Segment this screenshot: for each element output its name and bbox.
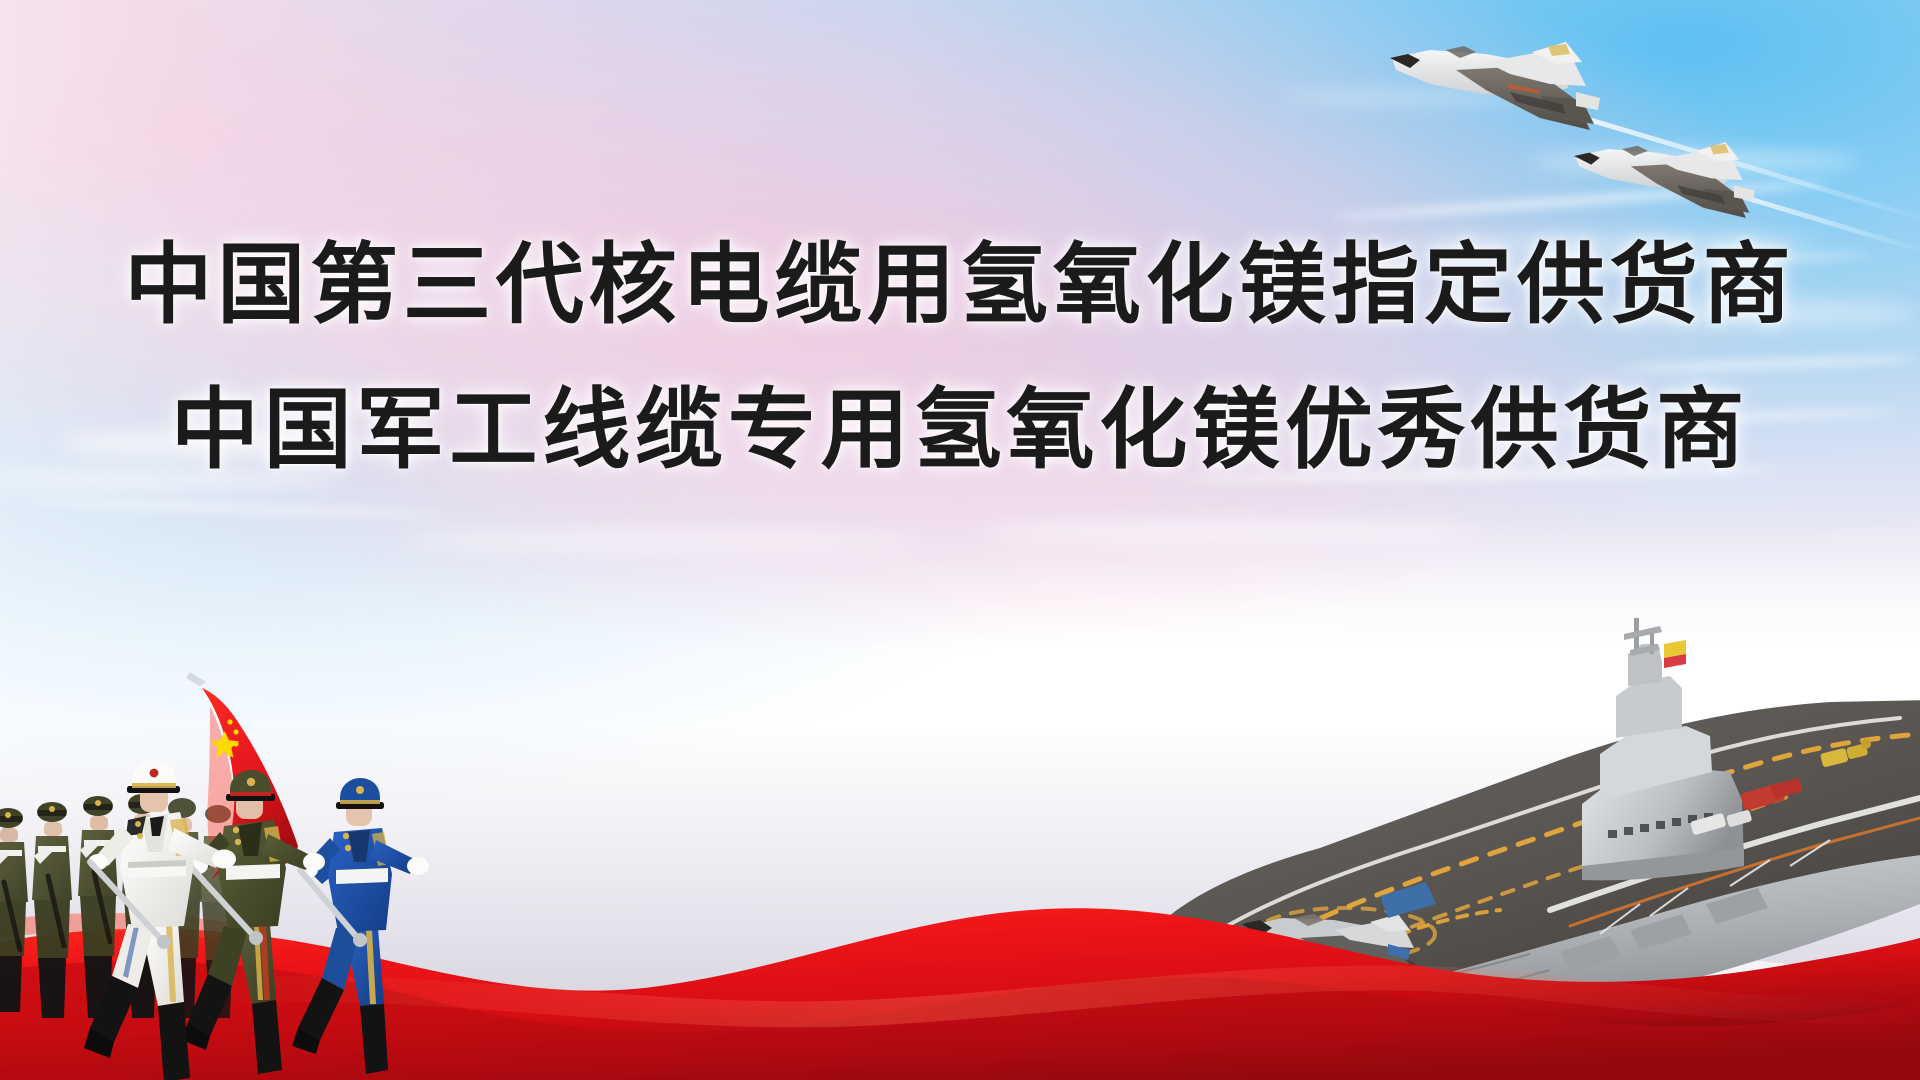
headline-block: 中国第三代核电缆用氢氧化镁指定供货商 中国军工线缆专用氢氧化镁优秀供货商: [0, 236, 1920, 479]
banner-canvas: 中国第三代核电缆用氢氧化镁指定供货商 中国军工线缆专用氢氧化镁优秀供货商: [0, 0, 1920, 1080]
ocean-depth-shade: [0, 600, 1920, 1080]
page-title-line-1: 中国第三代核电缆用氢氧化镁指定供货商: [0, 236, 1920, 335]
page-title-line-2: 中国军工线缆专用氢氧化镁优秀供货商: [0, 381, 1920, 480]
